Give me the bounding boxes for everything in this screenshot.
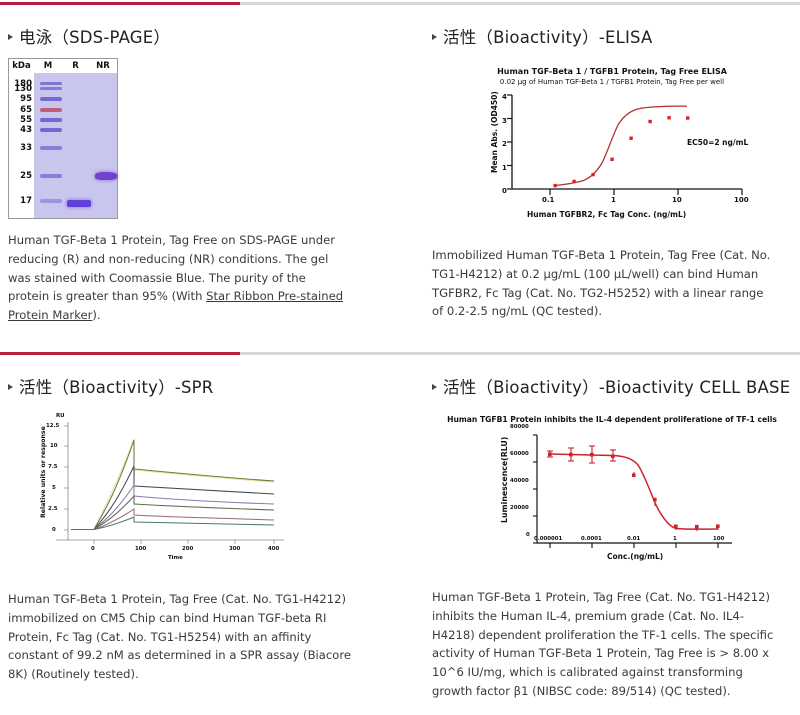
ladder-label-65: 65 bbox=[20, 105, 32, 115]
gel-ladder-labels: 180 130 95 65 55 43 33 25 17 bbox=[9, 73, 34, 218]
ladder-label-25: 25 bbox=[20, 171, 32, 181]
triangle-bullet-icon bbox=[432, 384, 437, 390]
caption-sds-page: Human TGF-Beta 1 Protein, Tag Free on SD… bbox=[8, 231, 346, 325]
gel-header-m: M bbox=[34, 61, 62, 71]
cellbase-xtick-1: 1 bbox=[673, 536, 677, 542]
cellbase-xtick-1e-6: 0.000001 bbox=[534, 536, 562, 542]
elisa-ytick-0: 0 bbox=[502, 187, 507, 195]
gel-body: 180 130 95 65 55 43 33 25 17 bbox=[9, 73, 117, 218]
heading-label: 活性（Bioactivity）-Bioactivity CELL BASE bbox=[443, 374, 790, 398]
cellbase-plot-svg bbox=[442, 425, 782, 565]
panel-sds-page: 电泳（SDS-PAGE） kDa M R NR 180 130 95 65 55… bbox=[8, 24, 388, 325]
heading-cellbase: 活性（Bioactivity）-Bioactivity CELL BASE bbox=[432, 374, 794, 398]
caption-cellbase: Human TGF-Beta 1 Protein, Tag Free (Cat.… bbox=[432, 588, 782, 701]
spr-ytick-2_5: 2.5 bbox=[48, 506, 58, 512]
panel-cellbase: 活性（Bioactivity）-Bioactivity CELL BASE Hu… bbox=[432, 374, 794, 701]
elisa-xtick-1: 1 bbox=[611, 196, 616, 204]
cellbase-x-axis-label: Conc.(ng/mL) bbox=[607, 552, 663, 561]
heading-label: 电泳（SDS-PAGE） bbox=[19, 24, 170, 48]
elisa-ytick-3: 3 bbox=[502, 117, 507, 125]
spr-plot-svg bbox=[16, 408, 306, 553]
spr-xtick-400: 400 bbox=[268, 546, 279, 552]
cellbase-ytick-20000: 20000 bbox=[510, 505, 529, 511]
triangle-bullet-icon bbox=[432, 34, 437, 40]
spr-ytick-7_5: 7.5 bbox=[48, 464, 58, 470]
cellbase-chart-title: Human TGFB1 Protein inhibits the IL-4 de… bbox=[442, 408, 782, 425]
panel-spr: 活性（Bioactivity）-SPR bbox=[8, 374, 388, 684]
caption-elisa: Immobilized Human TGF-Beta 1 Protein, Ta… bbox=[432, 246, 777, 321]
elisa-ytick-4: 4 bbox=[502, 93, 507, 101]
spr-ytick-5: 5 bbox=[52, 485, 56, 491]
marker-band-65 bbox=[40, 108, 62, 112]
elisa-chart-title: Human TGF-Beta 1 / TGFB1 Protein, Tag Fr… bbox=[442, 66, 782, 78]
heading-label: 活性（Bioactivity）-ELISA bbox=[443, 24, 653, 48]
ladder-label-33: 33 bbox=[20, 143, 32, 153]
divider-mid bbox=[0, 352, 800, 355]
spr-xtick-200: 200 bbox=[182, 546, 193, 552]
elisa-x-axis-label: Human TGFBR2, Fc Tag Conc. (ng/mL) bbox=[527, 210, 686, 219]
elisa-xtick-2: 10 bbox=[672, 196, 682, 204]
caption-text-post: ). bbox=[92, 308, 100, 322]
sample-band-reduced bbox=[67, 200, 91, 207]
elisa-xtick-0: 0.1 bbox=[542, 196, 554, 204]
spr-ytick-0: 0 bbox=[52, 527, 56, 533]
cellbase-ytick-60000: 60000 bbox=[510, 451, 529, 457]
ladder-label-130: 130 bbox=[14, 84, 32, 94]
spr-ytick-12_5: 12.5 bbox=[46, 423, 59, 429]
sample-band-nonreduced bbox=[95, 172, 117, 180]
gel-header-r: R bbox=[62, 61, 89, 71]
ladder-label-43: 43 bbox=[20, 125, 32, 135]
triangle-bullet-icon bbox=[8, 384, 13, 390]
marker-band-33 bbox=[40, 146, 62, 150]
cellbase-chart: Human TGFB1 Protein inhibits the IL-4 de… bbox=[442, 408, 782, 576]
heading-label: 活性（Bioactivity）-SPR bbox=[19, 374, 213, 398]
elisa-ec50-annotation: EC50=2 ng/mL bbox=[687, 138, 748, 147]
spr-x-axis-label: Time bbox=[168, 555, 183, 561]
caption-spr: Human TGF-Beta 1 Protein, Tag Free (Cat.… bbox=[8, 590, 353, 684]
marker-band-55 bbox=[40, 118, 62, 122]
ladder-label-95: 95 bbox=[20, 94, 32, 104]
elisa-xtick-3: 100 bbox=[734, 196, 749, 204]
cellbase-xtick-100: 100 bbox=[713, 536, 724, 542]
divider-accent bbox=[0, 2, 240, 5]
heading-elisa: 活性（Bioactivity）-ELISA bbox=[432, 24, 794, 48]
spr-y-unit-label: RU bbox=[56, 413, 65, 419]
marker-band-95 bbox=[40, 97, 62, 101]
ladder-label-55: 55 bbox=[20, 115, 32, 125]
spr-chart: 0 2.5 5 7.5 10 12.5 0 100 200 300 400 RU… bbox=[16, 408, 306, 568]
marker-band-130 bbox=[40, 87, 62, 90]
panel-elisa: 活性（Bioactivity）-ELISA Human TGF-Beta 1 /… bbox=[432, 24, 794, 321]
elisa-y-axis-label: Mean Abs. (OD450) bbox=[490, 91, 499, 173]
cellbase-ytick-0: 0 bbox=[526, 532, 530, 538]
ladder-label-17: 17 bbox=[20, 196, 32, 206]
gel-lanes bbox=[34, 73, 117, 218]
divider-accent bbox=[0, 352, 240, 355]
marker-band-25 bbox=[40, 174, 62, 178]
heading-sds-page: 电泳（SDS-PAGE） bbox=[8, 24, 388, 48]
sds-page-gel-image: kDa M R NR 180 130 95 65 55 43 33 25 17 bbox=[8, 58, 118, 219]
cellbase-y-axis-label: Luminescence(RLU) bbox=[500, 437, 509, 523]
spr-xtick-300: 300 bbox=[229, 546, 240, 552]
spr-y-axis-label: Relative units or response bbox=[40, 426, 47, 518]
spr-xtick-100: 100 bbox=[135, 546, 146, 552]
spr-ytick-10: 10 bbox=[50, 443, 58, 449]
marker-band-43 bbox=[40, 128, 62, 132]
heading-spr: 活性（Bioactivity）-SPR bbox=[8, 374, 388, 398]
divider-top bbox=[0, 2, 800, 5]
elisa-chart-subtitle: 0.02 μg of Human TGF-Beta 1 / TGFB1 Prot… bbox=[442, 78, 782, 88]
spr-xtick-0: 0 bbox=[91, 546, 95, 552]
triangle-bullet-icon bbox=[8, 34, 13, 40]
gel-header-kda: kDa bbox=[9, 61, 34, 71]
gel-header-nr: NR bbox=[89, 61, 117, 71]
marker-band-180 bbox=[40, 82, 62, 85]
gel-column-headers: kDa M R NR bbox=[9, 59, 117, 73]
cellbase-ytick-80000: 80000 bbox=[510, 424, 529, 430]
elisa-ytick-2: 2 bbox=[502, 140, 507, 148]
marker-band-17 bbox=[40, 199, 62, 203]
cellbase-xtick-1e-4: 0.0001 bbox=[581, 536, 602, 542]
elisa-ytick-1: 1 bbox=[502, 164, 507, 172]
cellbase-xtick-1e-2: 0.01 bbox=[627, 536, 640, 542]
elisa-chart: Human TGF-Beta 1 / TGFB1 Protein, Tag Fr… bbox=[442, 58, 782, 228]
cellbase-ytick-40000: 40000 bbox=[510, 478, 529, 484]
